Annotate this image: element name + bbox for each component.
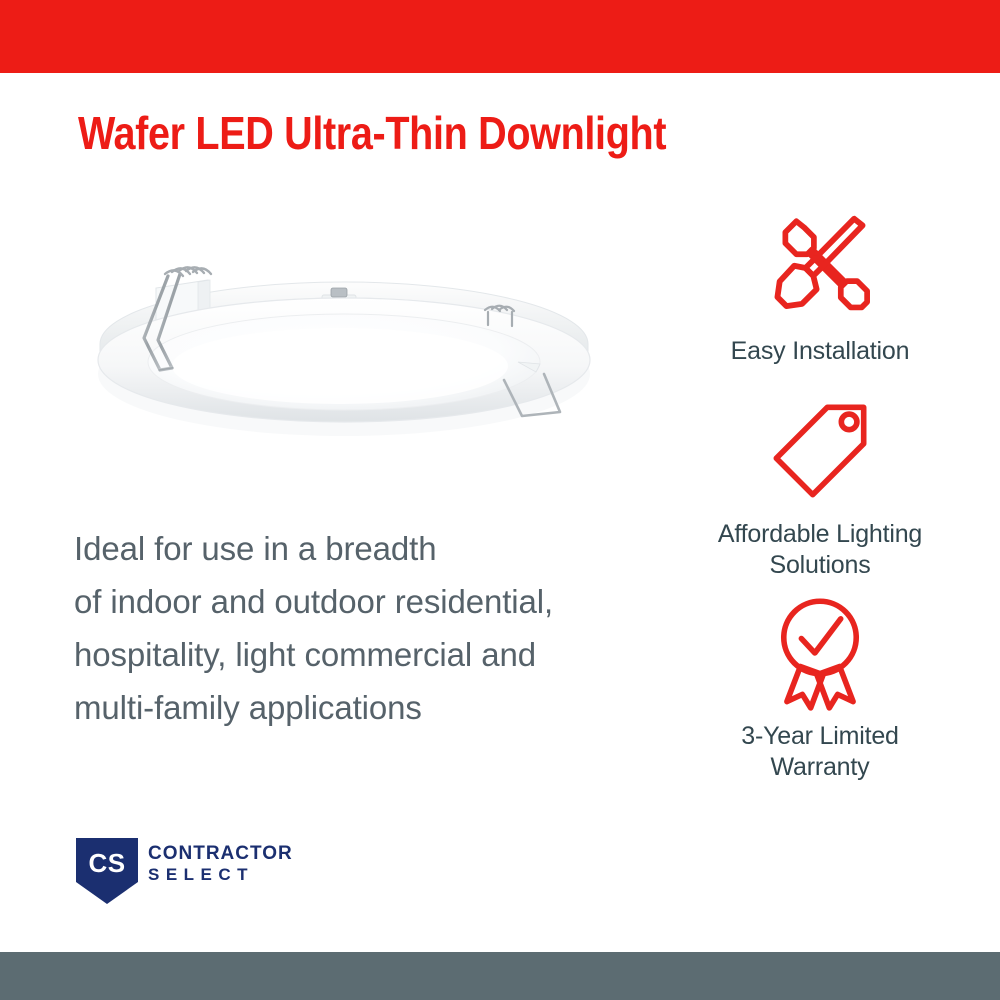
feature-label-warranty: 3-Year Limited Warranty [660, 721, 980, 783]
logo-word-contractor: CONTRACTOR [148, 843, 293, 864]
feature-2-line-1: Warranty [660, 752, 980, 783]
downlight-illustration [48, 222, 628, 472]
product-marketing-page: Wafer LED Ultra-Thin Downlight [0, 0, 1000, 1000]
award-ribbon-check-glyph [768, 594, 872, 712]
price-tag-icon [660, 393, 980, 509]
feature-easy-installation: Easy Installation [660, 210, 980, 367]
wrench-screwdriver-glyph [764, 212, 876, 324]
feature-1-line-1: Solutions [660, 550, 980, 581]
body-line-4: multi-family applications [74, 681, 664, 734]
wrench-screwdriver-icon [660, 210, 980, 326]
feature-affordable-lighting: Affordable Lighting Solutions [660, 393, 980, 581]
logo-word-select: SELECT [148, 865, 293, 885]
page-title: Wafer LED Ultra-Thin Downlight [78, 108, 680, 158]
feature-0-line-0: Easy Installation [660, 336, 980, 367]
body-line-1: Ideal for use in a breadth [74, 522, 664, 575]
contractor-select-logo: CS CONTRACTOR SELECT [76, 838, 336, 910]
price-tag-glyph [768, 399, 872, 503]
logo-wordmark: CONTRACTOR SELECT [148, 843, 293, 885]
feature-list: Easy Installation Affordable Lighting So… [660, 210, 980, 805]
top-red-banner [0, 0, 1000, 73]
body-line-3: hospitality, light commercial and [74, 628, 664, 681]
feature-label-affordable-lighting: Affordable Lighting Solutions [660, 519, 980, 581]
feature-warranty: 3-Year Limited Warranty [660, 595, 980, 783]
product-image [48, 222, 628, 472]
bottom-gray-banner [0, 952, 1000, 1000]
feature-2-line-0: 3-Year Limited [660, 721, 980, 752]
body-line-2: of indoor and outdoor residential, [74, 575, 664, 628]
feature-1-line-0: Affordable Lighting [660, 519, 980, 550]
logo-monogram: CS [76, 838, 138, 888]
award-ribbon-check-icon [660, 595, 980, 711]
body-paragraph: Ideal for use in a breadth of indoor and… [74, 522, 664, 734]
feature-label-easy-installation: Easy Installation [660, 336, 980, 367]
